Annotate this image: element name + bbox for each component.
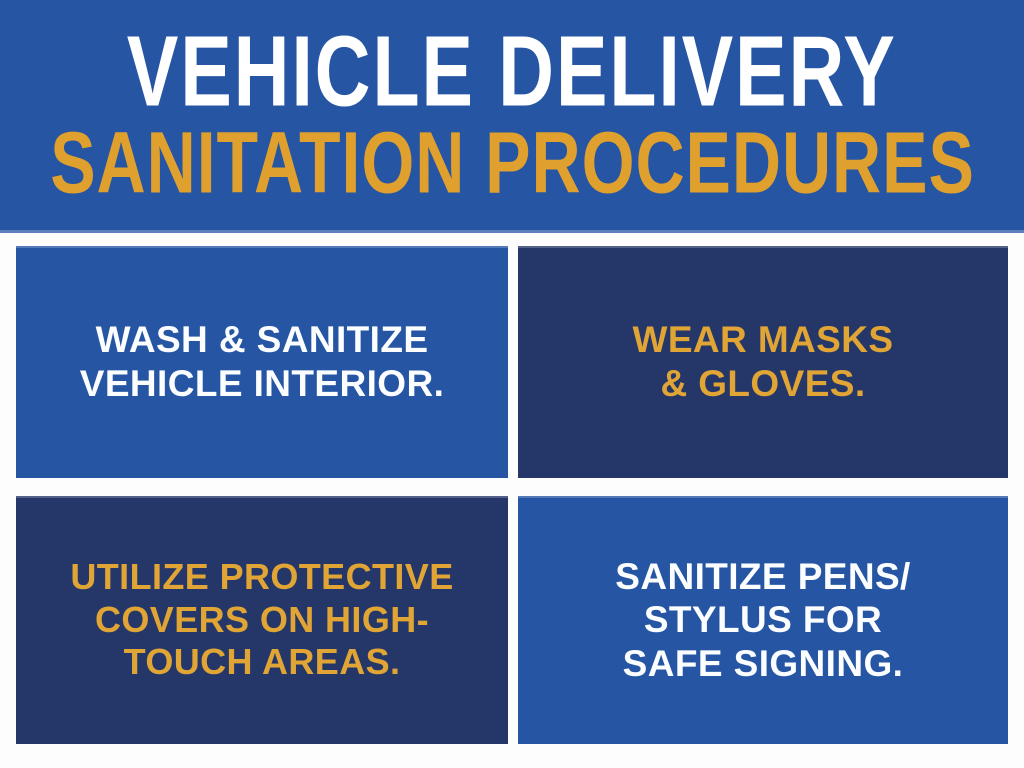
header-banner: VEHICLE DELIVERY SANITATION PROCEDURES — [0, 0, 1024, 230]
panel-text-wash-sanitize-interior: WASH & SANITIZE VEHICLE INTERIOR. — [38, 318, 486, 405]
panel-top-highlight — [518, 496, 1008, 498]
panel-protective-covers-high-touch: UTILIZE PROTECTIVE COVERS ON HIGH- TOUCH… — [16, 496, 508, 744]
panel-text-sanitize-pens-stylus: SANITIZE PENS/ STYLUS FOR SAFE SIGNING. — [540, 555, 986, 686]
panel-top-highlight — [16, 496, 508, 498]
header-title-block: VEHICLE DELIVERY SANITATION PROCEDURES — [0, 0, 1024, 230]
panel-top-highlight — [518, 246, 1008, 248]
poster-canvas: VEHICLE DELIVERY SANITATION PROCEDURES W… — [0, 0, 1024, 768]
panel-top-highlight — [16, 246, 508, 248]
header-divider — [0, 230, 1024, 233]
panel-text-protective-covers-high-touch: UTILIZE PROTECTIVE COVERS ON HIGH- TOUCH… — [38, 556, 486, 683]
panel-text-wear-masks-gloves: WEAR MASKS & GLOVES. — [540, 318, 986, 405]
panel-wear-masks-gloves: WEAR MASKS & GLOVES. — [518, 246, 1008, 478]
page-title-secondary: SANITATION PROCEDURES — [50, 122, 975, 202]
panel-sanitize-pens-stylus: SANITIZE PENS/ STYLUS FOR SAFE SIGNING. — [518, 496, 1008, 744]
page-title-primary: VEHICLE DELIVERY — [127, 27, 897, 119]
panel-wash-sanitize-interior: WASH & SANITIZE VEHICLE INTERIOR. — [16, 246, 508, 478]
